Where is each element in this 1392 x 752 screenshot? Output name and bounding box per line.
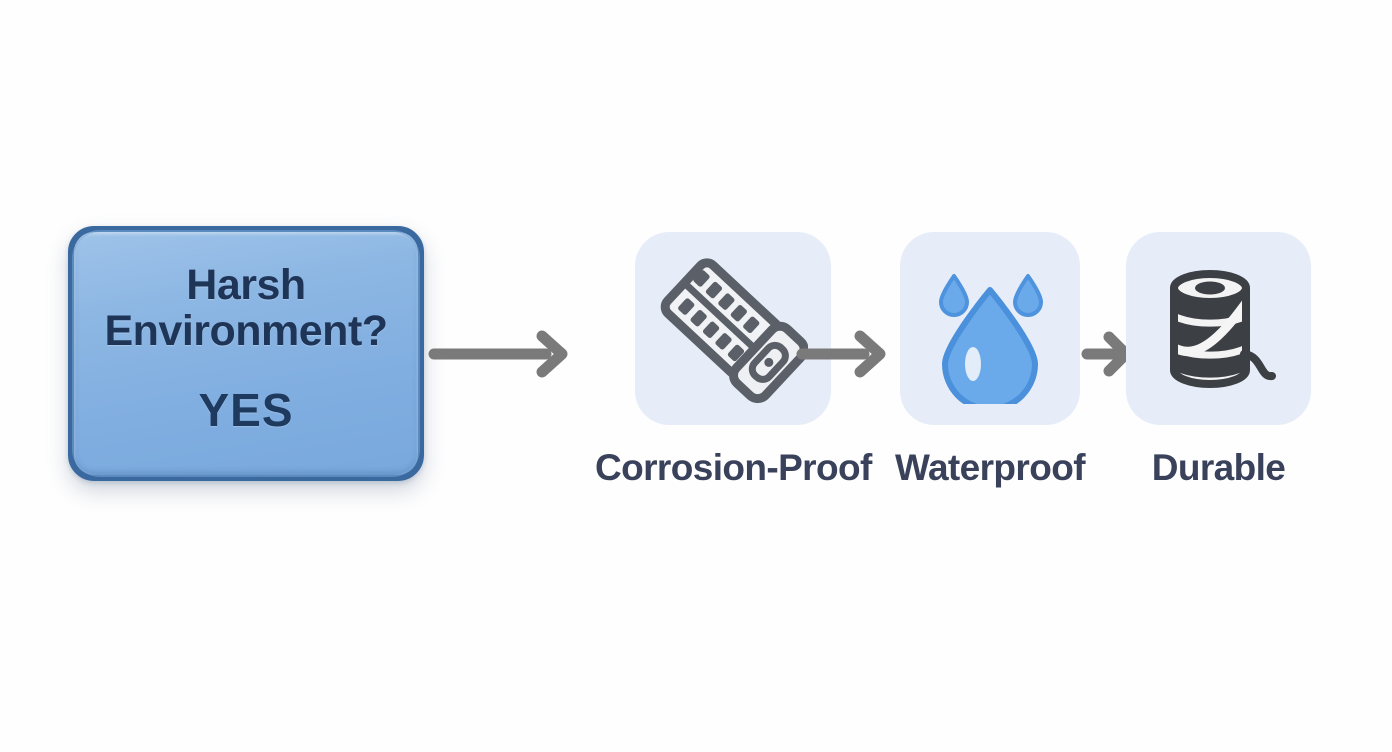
feature-card-durable[interactable] — [1126, 232, 1311, 425]
harsh-environment-decision-box[interactable]: Harsh Environment? YES — [68, 226, 424, 481]
arrow-corrosion-to-waterproof — [796, 330, 894, 378]
feature-label-corrosion-proof: Corrosion-Proof — [595, 447, 872, 489]
feature-label-waterproof: Waterproof — [895, 447, 1085, 489]
decision-question: Harsh Environment? — [104, 264, 387, 354]
zipper-icon — [658, 254, 808, 404]
water-droplet-icon — [915, 254, 1065, 404]
diagram-canvas: Harsh Environment? YES — [0, 0, 1392, 752]
decision-answer: YES — [198, 383, 293, 437]
feature-card-corrosion-proof[interactable] — [635, 232, 831, 425]
arrow-decision-to-corrosion — [428, 330, 576, 378]
decision-question-line-1: Harsh — [104, 264, 387, 308]
thread-spool-icon — [1144, 254, 1294, 404]
feature-durable[interactable]: Durable — [1126, 232, 1311, 489]
decision-question-line-2: Environment? — [104, 310, 387, 354]
feature-label-durable: Durable — [1152, 447, 1286, 489]
feature-card-waterproof[interactable] — [900, 232, 1080, 425]
feature-waterproof[interactable]: Waterproof — [895, 232, 1085, 489]
